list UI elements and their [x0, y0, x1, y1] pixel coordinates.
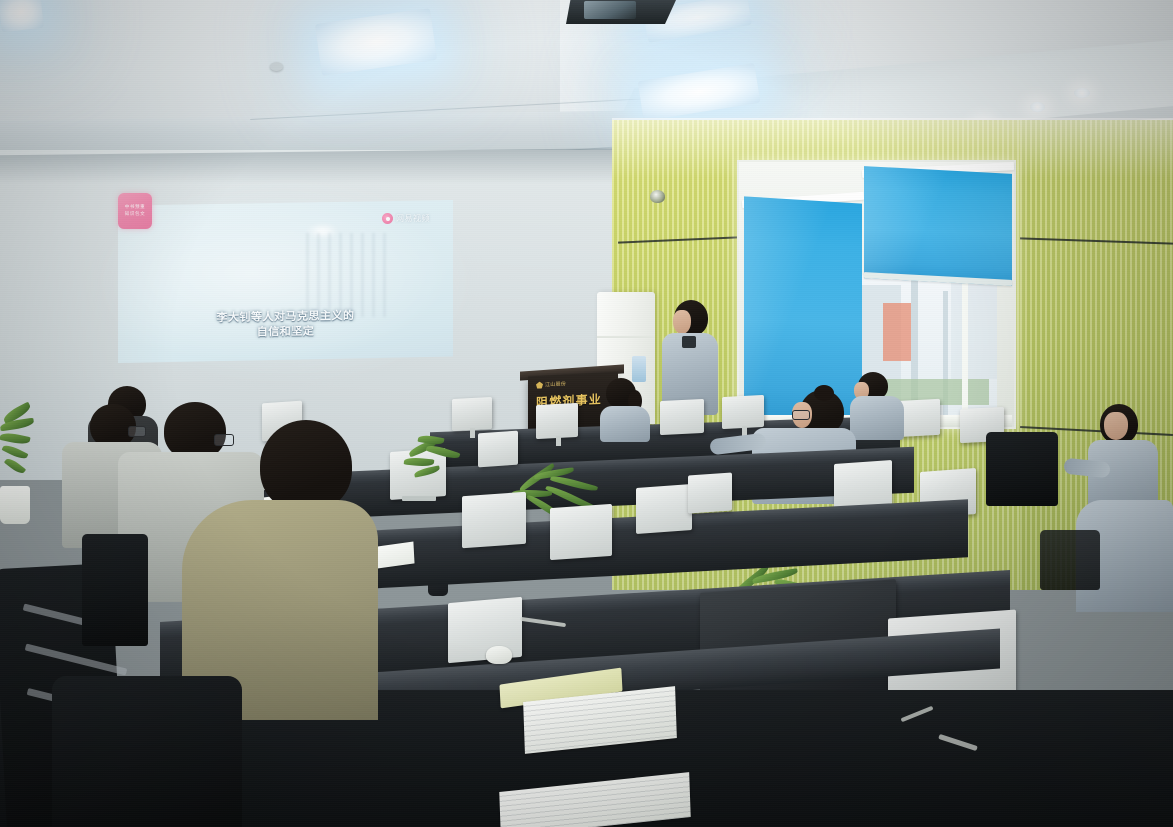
- projection-screen: 李大钊等人对马克思主义的 自信和坚定: [118, 200, 453, 363]
- blind-sheen: [864, 166, 1012, 286]
- outdoor-red-banner: [883, 303, 913, 361]
- company-mark-icon: [536, 381, 543, 388]
- potted-plant-left: [0, 408, 46, 528]
- monitor: [550, 504, 612, 560]
- watermark-label: 网易视频: [396, 213, 430, 224]
- chair-foreground-left-seat[interactable]: [52, 676, 242, 827]
- presenter-face: [673, 310, 691, 334]
- monitor-stand: [470, 428, 475, 438]
- projection-logo-line-2: 知识包文: [125, 211, 145, 218]
- window-mullion: [962, 275, 968, 425]
- projection-subtitle: 李大钊等人对马克思主义的 自信和坚定: [118, 306, 453, 341]
- air-conditioner-seam: [597, 336, 655, 338]
- projector-lens: [584, 1, 636, 19]
- monitor: [478, 431, 518, 468]
- chair-mid-left[interactable]: [82, 534, 148, 646]
- subtitle-line-1: 李大钊等人对马克思主义的: [217, 308, 355, 323]
- ceiling-downlight: [1074, 88, 1090, 98]
- mouse[interactable]: [486, 646, 512, 664]
- chair[interactable]: [986, 432, 1058, 506]
- plant-leaf: [4, 456, 26, 476]
- glasses-icon: [792, 410, 810, 420]
- security-camera-icon: [650, 190, 665, 203]
- netease-video-icon: [382, 213, 393, 224]
- projection-corner-logo: 中书预重 知识包文: [118, 193, 152, 229]
- attendee-uniform: [600, 406, 650, 442]
- attendee-center-front: [600, 378, 652, 440]
- potted-plant-center-left: [404, 436, 468, 496]
- projection-vertical-text-block: [306, 233, 393, 318]
- plant-leaf: [0, 431, 31, 446]
- outdoor-building: [951, 279, 997, 379]
- ceiling-downlight: [1030, 102, 1045, 112]
- attendee-hair-bun: [814, 385, 834, 401]
- monitor-stand: [556, 436, 561, 446]
- projection-watermark: 网易视频: [382, 213, 430, 224]
- presenter-collar: [682, 336, 696, 348]
- roller-blind-right[interactable]: [864, 166, 1012, 286]
- lectern-company-name: 江山股份: [545, 380, 566, 388]
- attendee-hand: [432, 610, 486, 650]
- plant-leaf: [404, 456, 435, 467]
- ceiling-panel-light: [0, 0, 44, 32]
- training-room-photo: 李大钊等人对马克思主义的 自信和坚定 中书预重 知识包文 网易视频: [0, 0, 1173, 827]
- projection-logo-line-1: 中书预重: [125, 204, 145, 211]
- attendee-left-1: [182, 420, 382, 720]
- plant-leaf: [414, 465, 441, 477]
- monitor: [536, 403, 578, 439]
- smoke-detector: [270, 62, 283, 71]
- chair[interactable]: [1040, 530, 1100, 590]
- monitor: [452, 397, 492, 431]
- monitor-base: [402, 496, 436, 501]
- monitor: [462, 492, 526, 548]
- attendee-hair: [260, 420, 352, 512]
- monitor: [660, 399, 704, 435]
- attendee-face: [1104, 412, 1128, 440]
- monitor: [688, 472, 732, 513]
- plant-pot: [0, 486, 30, 524]
- monitor: [636, 484, 692, 534]
